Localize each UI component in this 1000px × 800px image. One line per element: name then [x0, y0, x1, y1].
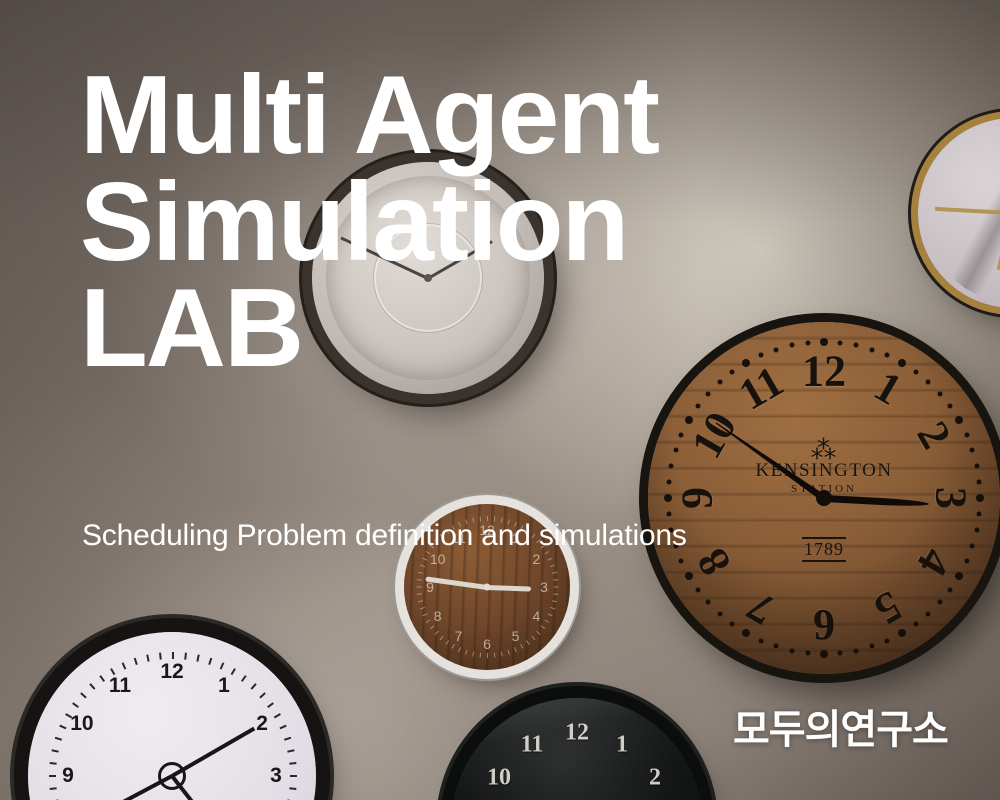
brand-logo: 모두의연구소: [733, 697, 948, 755]
page-subtitle: Scheduling Problem definition and simula…: [82, 519, 687, 553]
title-line-2: Simulation: [80, 169, 920, 276]
title-line-3: LAB: [80, 275, 920, 382]
poster-canvas: 121234567891011 ⁂ KENSINGTON STATION 178…: [0, 0, 1000, 800]
page-title: Multi Agent Simulation LAB: [80, 62, 920, 382]
title-line-1: Multi Agent: [80, 62, 920, 169]
